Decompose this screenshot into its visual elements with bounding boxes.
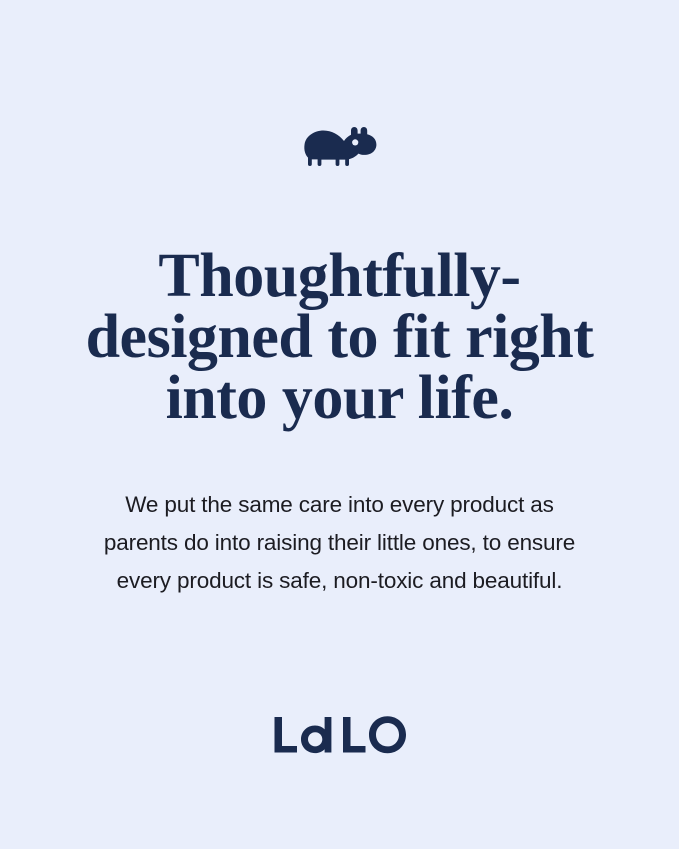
hippo-eye-icon: [352, 139, 358, 145]
brand-mark: Hippo: [0, 120, 679, 168]
promo-card: Hippo Thoughtfully- designed to fit righ…: [0, 0, 679, 849]
body-paragraph: We put the same care into every product …: [0, 486, 679, 600]
hippo-icon: Hippo: [302, 120, 378, 168]
headline: Thoughtfully- designed to fit right into…: [0, 246, 679, 428]
brand-wordmark: LALO LALO: [0, 714, 679, 756]
lalo-wordmark-icon: LALO: [273, 714, 407, 756]
